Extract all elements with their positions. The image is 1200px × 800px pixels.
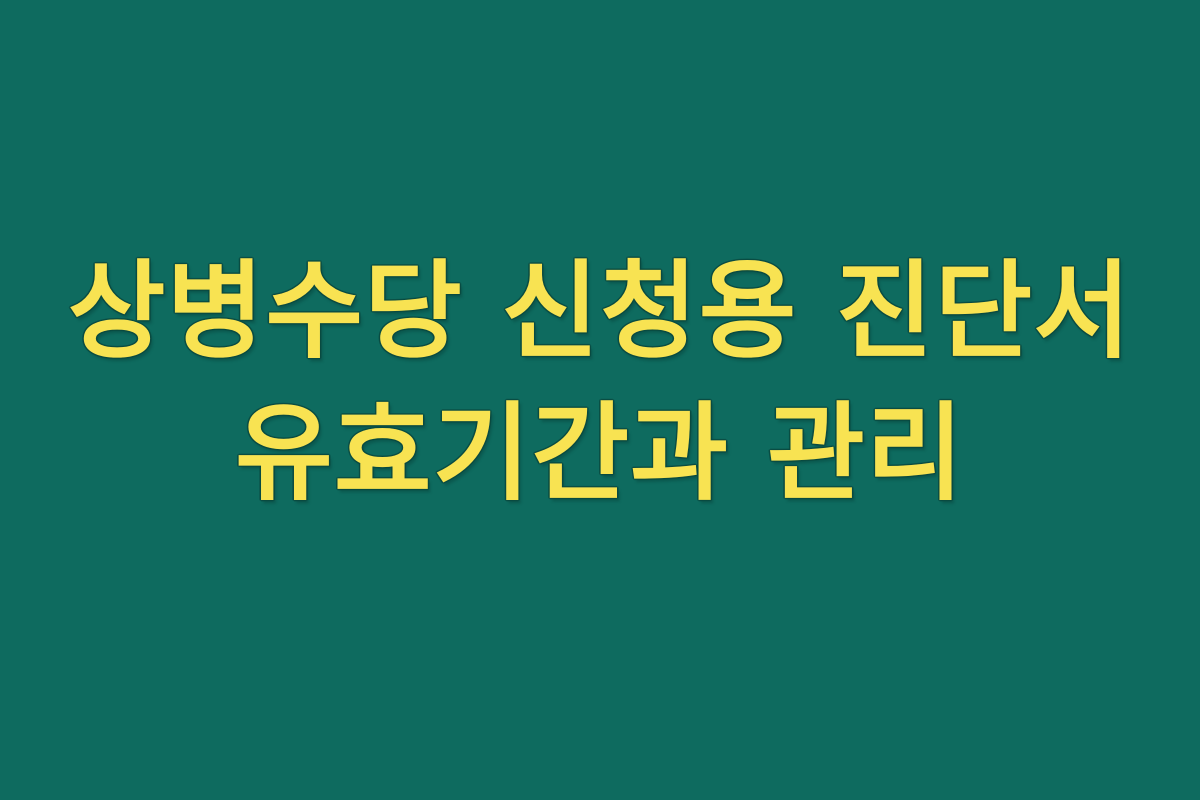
headline-line-2: 유효기간과 관리 [40,383,1160,525]
headline-text-block: 상병수당 신청용 진단서 유효기간과 관리 [40,241,1160,525]
title-card: 상병수당 신청용 진단서 유효기간과 관리 [0,0,1200,800]
headline-line-1: 상병수당 신청용 진단서 [40,241,1160,383]
